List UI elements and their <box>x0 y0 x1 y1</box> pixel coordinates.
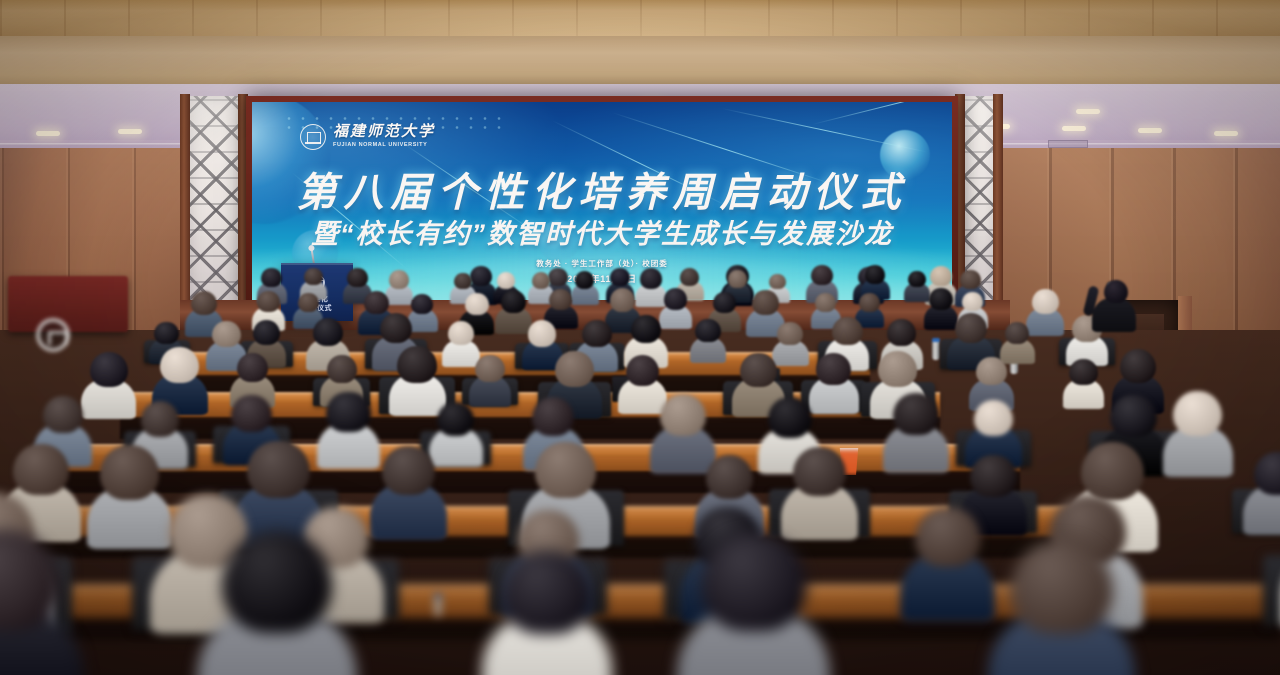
downlight <box>1214 131 1238 136</box>
audience-member <box>1120 349 1157 399</box>
person-head <box>610 268 630 286</box>
event-title-sub: 暨“校长有约”数智时代大学生成长与发展沙龙 <box>252 212 952 251</box>
person-head <box>1173 391 1222 436</box>
audience-member <box>160 347 199 400</box>
person-head <box>768 397 812 437</box>
chair-back <box>1263 555 1280 626</box>
person-head <box>237 353 268 382</box>
audience-member <box>626 355 660 400</box>
person-head <box>304 268 322 285</box>
university-name-cn: 福建师范大学 <box>333 125 435 141</box>
water-bottle <box>434 594 442 616</box>
audience-member <box>793 447 846 519</box>
event-title-main: 第八届个性化培养周启动仪式 <box>252 160 952 218</box>
audience-member <box>304 268 322 293</box>
audience-member <box>532 272 550 297</box>
downlight <box>1076 109 1100 114</box>
left-lattice-frame-outer <box>180 94 190 330</box>
audience-member <box>865 265 885 292</box>
person-head <box>626 355 660 386</box>
audience-member <box>247 441 310 525</box>
person-head <box>908 271 926 287</box>
audience-member <box>1069 359 1098 398</box>
person-head <box>43 396 83 433</box>
audience-member <box>811 265 833 295</box>
audience-member <box>222 531 333 675</box>
person-head <box>465 293 489 315</box>
person-head <box>90 352 128 387</box>
person-head <box>930 266 952 286</box>
person-head <box>832 317 863 345</box>
person-head <box>382 446 436 495</box>
audience-member <box>929 288 953 320</box>
person-head <box>454 273 472 289</box>
audience-member <box>448 321 474 356</box>
person-head <box>502 551 592 633</box>
person-head <box>535 442 596 498</box>
person-head <box>976 357 1007 386</box>
person-head <box>313 318 343 346</box>
ceiling-vent <box>1048 140 1088 148</box>
audience-member <box>752 290 779 326</box>
conference-hall-photo: 福建师范大学 FUJIAN NORMAL UNIVERSITY 第八届个性化培养… <box>0 0 1280 675</box>
person-head <box>962 292 983 311</box>
audience-member <box>631 315 661 356</box>
person-head <box>411 294 433 314</box>
audience-member <box>908 271 926 295</box>
person-head <box>222 531 333 633</box>
audience-member <box>326 392 370 452</box>
audience-member <box>397 346 437 399</box>
person-head <box>929 288 953 310</box>
wall-emblem-icon <box>36 318 70 352</box>
audience-member <box>816 353 851 400</box>
person-head <box>364 291 389 314</box>
person-head <box>887 319 916 346</box>
person-head <box>160 347 199 383</box>
person-head <box>347 268 368 287</box>
person-head <box>859 293 879 312</box>
person-head <box>397 346 437 382</box>
audience-member <box>475 355 505 395</box>
person-head <box>1120 349 1157 383</box>
audience-member <box>640 268 662 298</box>
audience-member <box>701 533 807 675</box>
audience-member <box>237 353 268 395</box>
person-head <box>631 315 661 343</box>
person-head <box>1081 442 1144 500</box>
downlight <box>1138 128 1162 133</box>
person-head <box>955 313 988 343</box>
person-head <box>1104 280 1128 303</box>
audience-member <box>327 355 357 395</box>
person-head <box>548 268 568 286</box>
person-head <box>1032 289 1059 314</box>
person-head <box>475 355 505 382</box>
audience-member <box>90 352 128 403</box>
audience-member <box>313 318 343 359</box>
audience-member <box>253 320 281 357</box>
person-head <box>448 321 474 345</box>
person-head <box>575 271 594 289</box>
audience-member <box>955 313 988 357</box>
downlight <box>118 129 142 134</box>
person-head <box>497 272 515 289</box>
audience-member <box>660 394 706 456</box>
person-head <box>777 322 803 345</box>
right-lattice-frame-outer <box>993 94 1003 330</box>
audience-member <box>1010 540 1112 675</box>
person-head <box>212 321 241 347</box>
downlight <box>36 131 60 136</box>
audience-member <box>1173 391 1222 457</box>
person-head <box>528 320 557 346</box>
audience-member <box>893 393 939 454</box>
person-head <box>298 293 319 312</box>
audience-member <box>1005 322 1029 354</box>
person-head <box>610 288 635 311</box>
person-head <box>793 447 846 496</box>
person-head <box>327 355 357 382</box>
downlight <box>1062 126 1086 131</box>
person-torso <box>1092 298 1136 332</box>
university-name-block: 福建师范大学 FUJIAN NORMAL UNIVERSITY <box>333 125 435 149</box>
person-head <box>769 274 786 289</box>
person-head <box>974 400 1013 436</box>
person-head <box>640 268 662 288</box>
person-head <box>664 288 687 309</box>
person-head <box>1005 322 1029 344</box>
person-head <box>326 392 370 433</box>
person-head <box>816 353 851 385</box>
audience-member <box>528 320 557 358</box>
audience-member <box>502 551 592 672</box>
person-head <box>501 290 526 313</box>
person-head <box>713 292 736 313</box>
person-head <box>13 444 69 495</box>
person-head <box>154 322 178 344</box>
person-head <box>878 351 917 387</box>
audience-member <box>555 351 594 403</box>
audience-photographer <box>1100 278 1126 324</box>
audience-member <box>695 319 720 353</box>
person-head <box>865 265 885 283</box>
person-head <box>532 272 550 289</box>
audience-member <box>411 294 433 323</box>
university-logo: 福建师范大学 FUJIAN NORMAL UNIVERSITY <box>300 124 435 150</box>
person-head <box>660 394 706 436</box>
person-head <box>701 533 807 631</box>
audience-member <box>777 322 803 356</box>
person-head <box>191 291 217 315</box>
person-head <box>811 265 833 285</box>
person-head <box>470 266 492 286</box>
water-bottle <box>932 338 940 360</box>
person-head <box>231 395 271 432</box>
person-head <box>253 320 281 345</box>
person-head <box>1010 540 1112 634</box>
person-head <box>680 268 699 286</box>
person-head <box>752 290 779 315</box>
audience-member <box>501 290 526 324</box>
audience-member <box>664 288 687 319</box>
person-head <box>695 319 720 342</box>
audience-member <box>389 270 409 297</box>
audience-member <box>740 353 777 403</box>
dark-red-furniture <box>8 276 128 332</box>
person-head <box>915 507 981 568</box>
audience-member <box>382 446 436 518</box>
audience-member <box>1032 289 1059 325</box>
audience-member <box>437 402 474 452</box>
person-head <box>100 445 159 499</box>
person-head <box>893 393 939 435</box>
person-head <box>261 268 282 287</box>
university-name-en: FUJIAN NORMAL UNIVERSITY <box>333 143 435 149</box>
audience-member <box>0 530 60 675</box>
person-head <box>960 270 981 289</box>
person-head <box>532 397 574 436</box>
audience-member <box>257 291 280 322</box>
person-head <box>389 270 409 288</box>
person-head <box>141 401 179 436</box>
person-head <box>728 270 747 287</box>
audience-member <box>549 289 572 320</box>
person-head <box>549 289 572 310</box>
person-head <box>706 455 754 499</box>
person-head <box>582 320 612 347</box>
audience-member <box>976 357 1007 399</box>
person-head <box>1110 395 1156 438</box>
audience-member <box>298 293 319 321</box>
person-head <box>740 353 777 387</box>
person-head <box>970 455 1016 498</box>
person-head <box>555 351 594 386</box>
person-head <box>247 441 310 499</box>
audience-member <box>915 507 981 596</box>
audience-member <box>1254 452 1280 516</box>
person-head <box>437 402 474 436</box>
university-seal-icon <box>300 124 326 150</box>
person-head <box>380 313 413 343</box>
audience-member <box>575 271 594 297</box>
audience-member <box>100 445 159 525</box>
audience-member <box>43 396 83 450</box>
person-head <box>815 293 836 312</box>
person-head <box>257 291 280 312</box>
person-head <box>1069 359 1098 386</box>
audience-member <box>974 400 1013 453</box>
light-beam <box>812 102 952 125</box>
